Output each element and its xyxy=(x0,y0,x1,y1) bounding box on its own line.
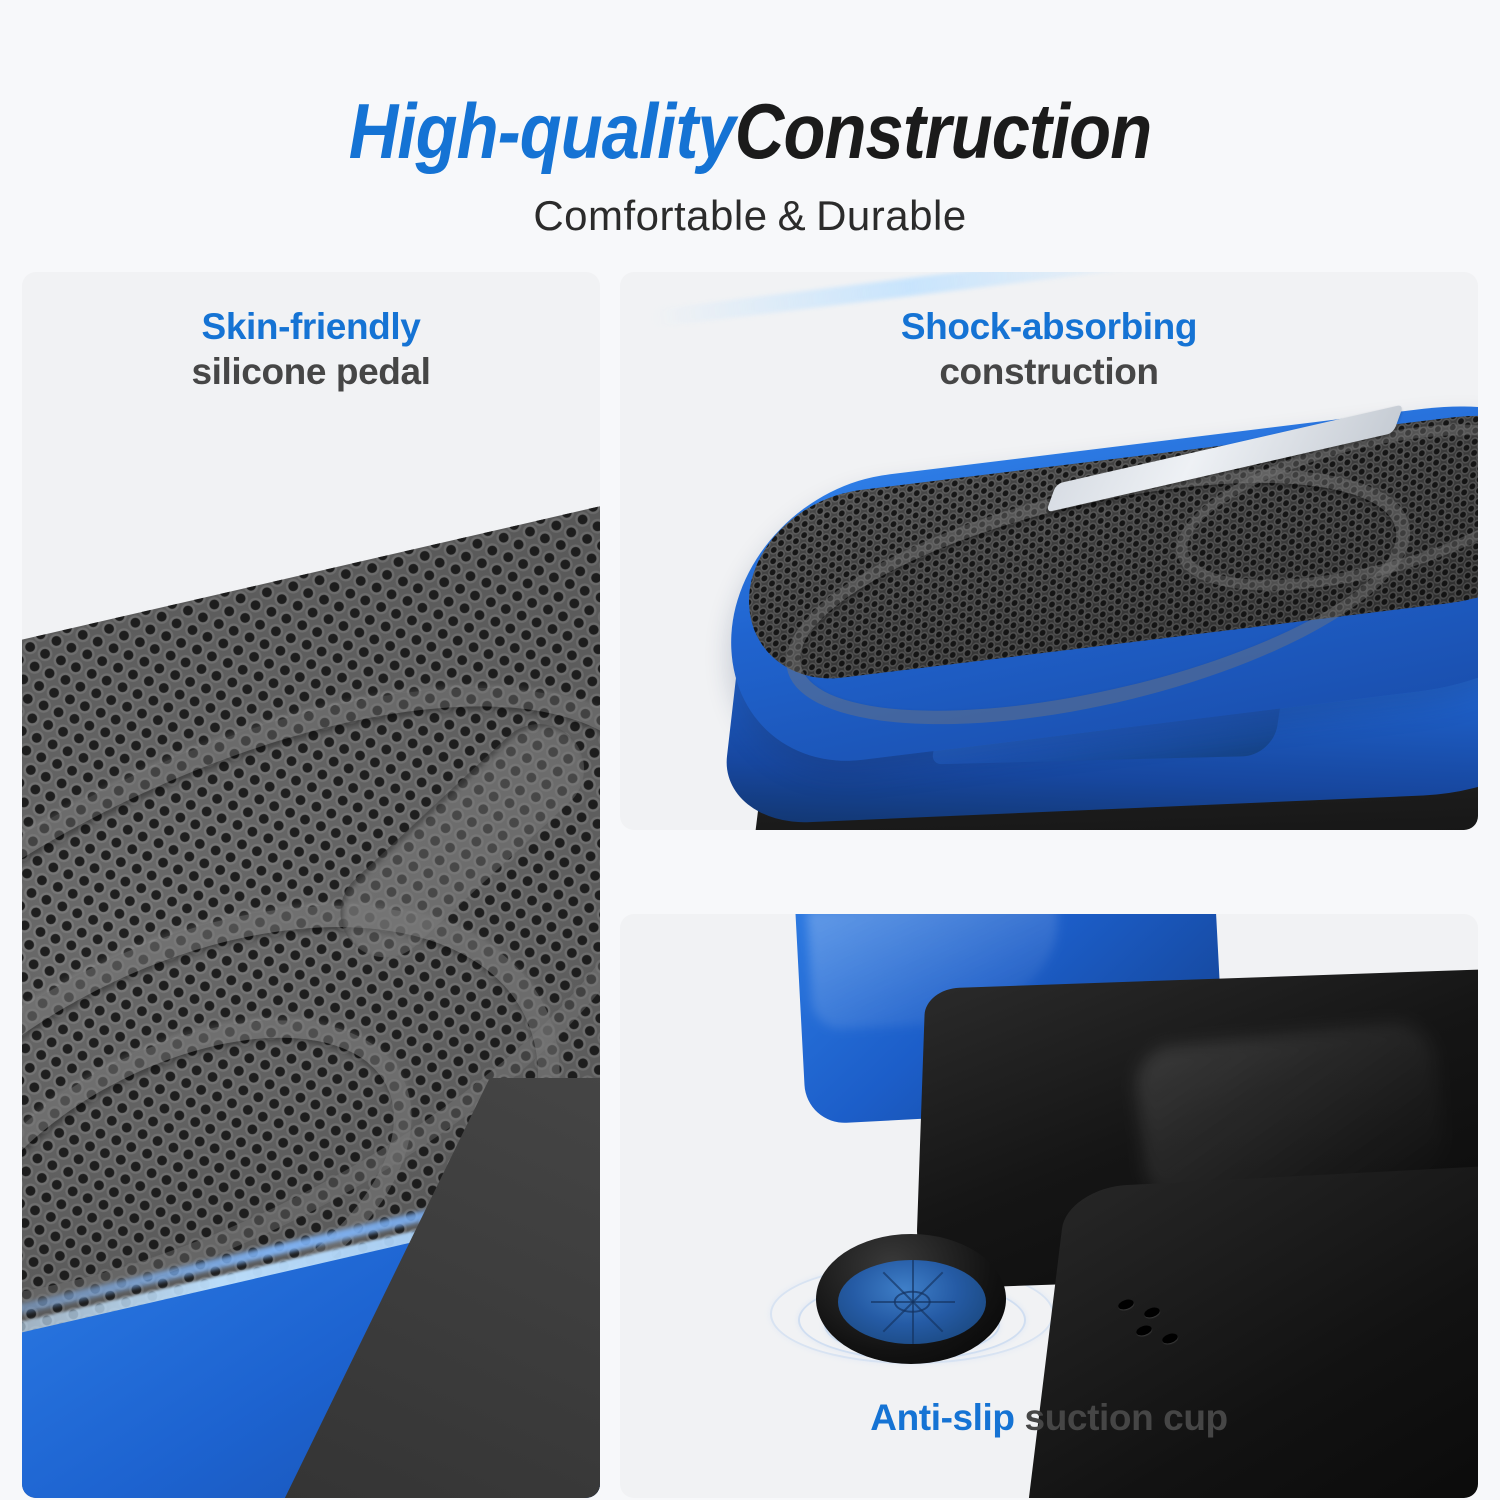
promo-graphic: High-qualityConstruction Comfortable&Dur… xyxy=(0,0,1500,1500)
plate-pedal-deck xyxy=(744,399,1478,690)
subtitle-word-durable: Durable xyxy=(816,192,967,239)
subtitle-ampersand: & xyxy=(768,192,817,239)
panel-skin-friendly-pedal: Skin-friendly silicone pedal xyxy=(22,272,600,1498)
vibration-plate-image xyxy=(620,272,1478,830)
suction-cup-front xyxy=(816,1234,1006,1364)
panel-shock-absorbing: Shock-absorbing construction xyxy=(620,272,1478,830)
panel-anti-slip-suction-cup: Anti-slip suction cup xyxy=(620,914,1478,1498)
pedal-closeup-image xyxy=(22,272,600,1498)
suction-cup-hub xyxy=(894,1291,931,1313)
suction-cup-closeup-image xyxy=(620,914,1478,1498)
page-subtitle: Comfortable&Durable xyxy=(0,170,1500,240)
plate-rim-shine xyxy=(651,272,1169,328)
headline-blue-part: High-quality xyxy=(349,87,735,175)
header: High-qualityConstruction Comfortable&Dur… xyxy=(0,0,1500,240)
headline-dark-part: Construction xyxy=(735,87,1152,175)
page-title: High-qualityConstruction xyxy=(90,0,1410,170)
subtitle-word-comfortable: Comfortable xyxy=(533,192,767,239)
machine-black-underside-lower xyxy=(1014,1160,1478,1498)
suction-cup-blue-disc xyxy=(838,1260,986,1344)
